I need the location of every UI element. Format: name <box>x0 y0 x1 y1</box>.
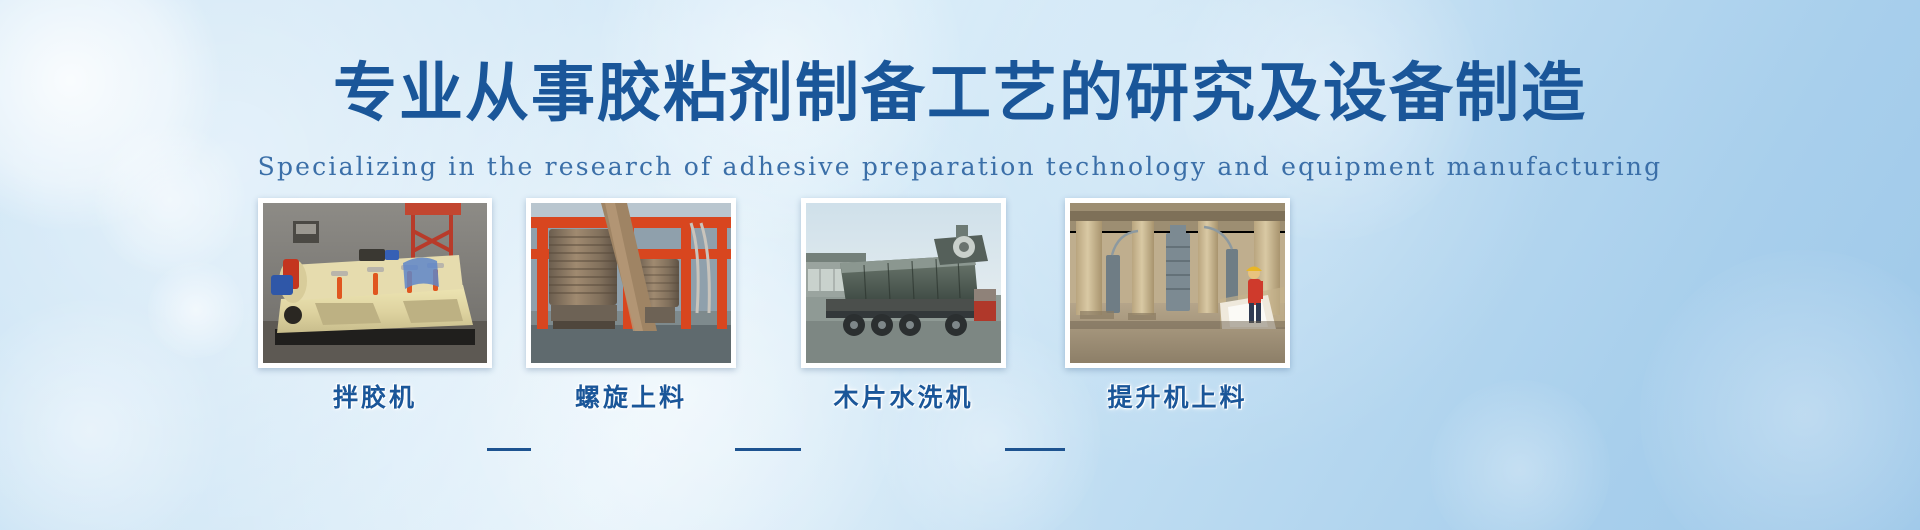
connector-line-2 <box>735 448 801 451</box>
connector-line-1 <box>487 448 531 451</box>
photo-glue-mixer[interactable] <box>258 198 492 368</box>
gallery-item-bucket-elevator[interactable]: 提升机上料 <box>1065 198 1290 414</box>
photo-bucket-elevator[interactable] <box>1065 198 1290 368</box>
gallery-caption: 木片水洗机 <box>801 382 1006 414</box>
banner-subheadline: Specializing in the research of adhesive… <box>0 150 1920 184</box>
gallery-item-woodchip-washer[interactable]: 木片水洗机 <box>801 198 1006 414</box>
photo-woodchip-washer[interactable] <box>801 198 1006 368</box>
gallery-item-screw-conveyor[interactable]: 螺旋上料 <box>526 198 736 414</box>
banner-headline: 专业从事胶粘剂制备工艺的研究及设备制造 <box>0 56 1920 132</box>
equipment-gallery: 拌胶机 <box>0 198 1920 448</box>
gallery-caption: 提升机上料 <box>1065 382 1290 414</box>
gallery-item-glue-mixer[interactable]: 拌胶机 <box>258 198 492 414</box>
connector-line-3 <box>1005 448 1065 451</box>
photo-screw-conveyor[interactable] <box>526 198 736 368</box>
gallery-caption: 拌胶机 <box>258 382 492 414</box>
gallery-caption: 螺旋上料 <box>526 382 736 414</box>
promotional-banner: 专业从事胶粘剂制备工艺的研究及设备制造 Specializing in the … <box>0 0 1920 530</box>
